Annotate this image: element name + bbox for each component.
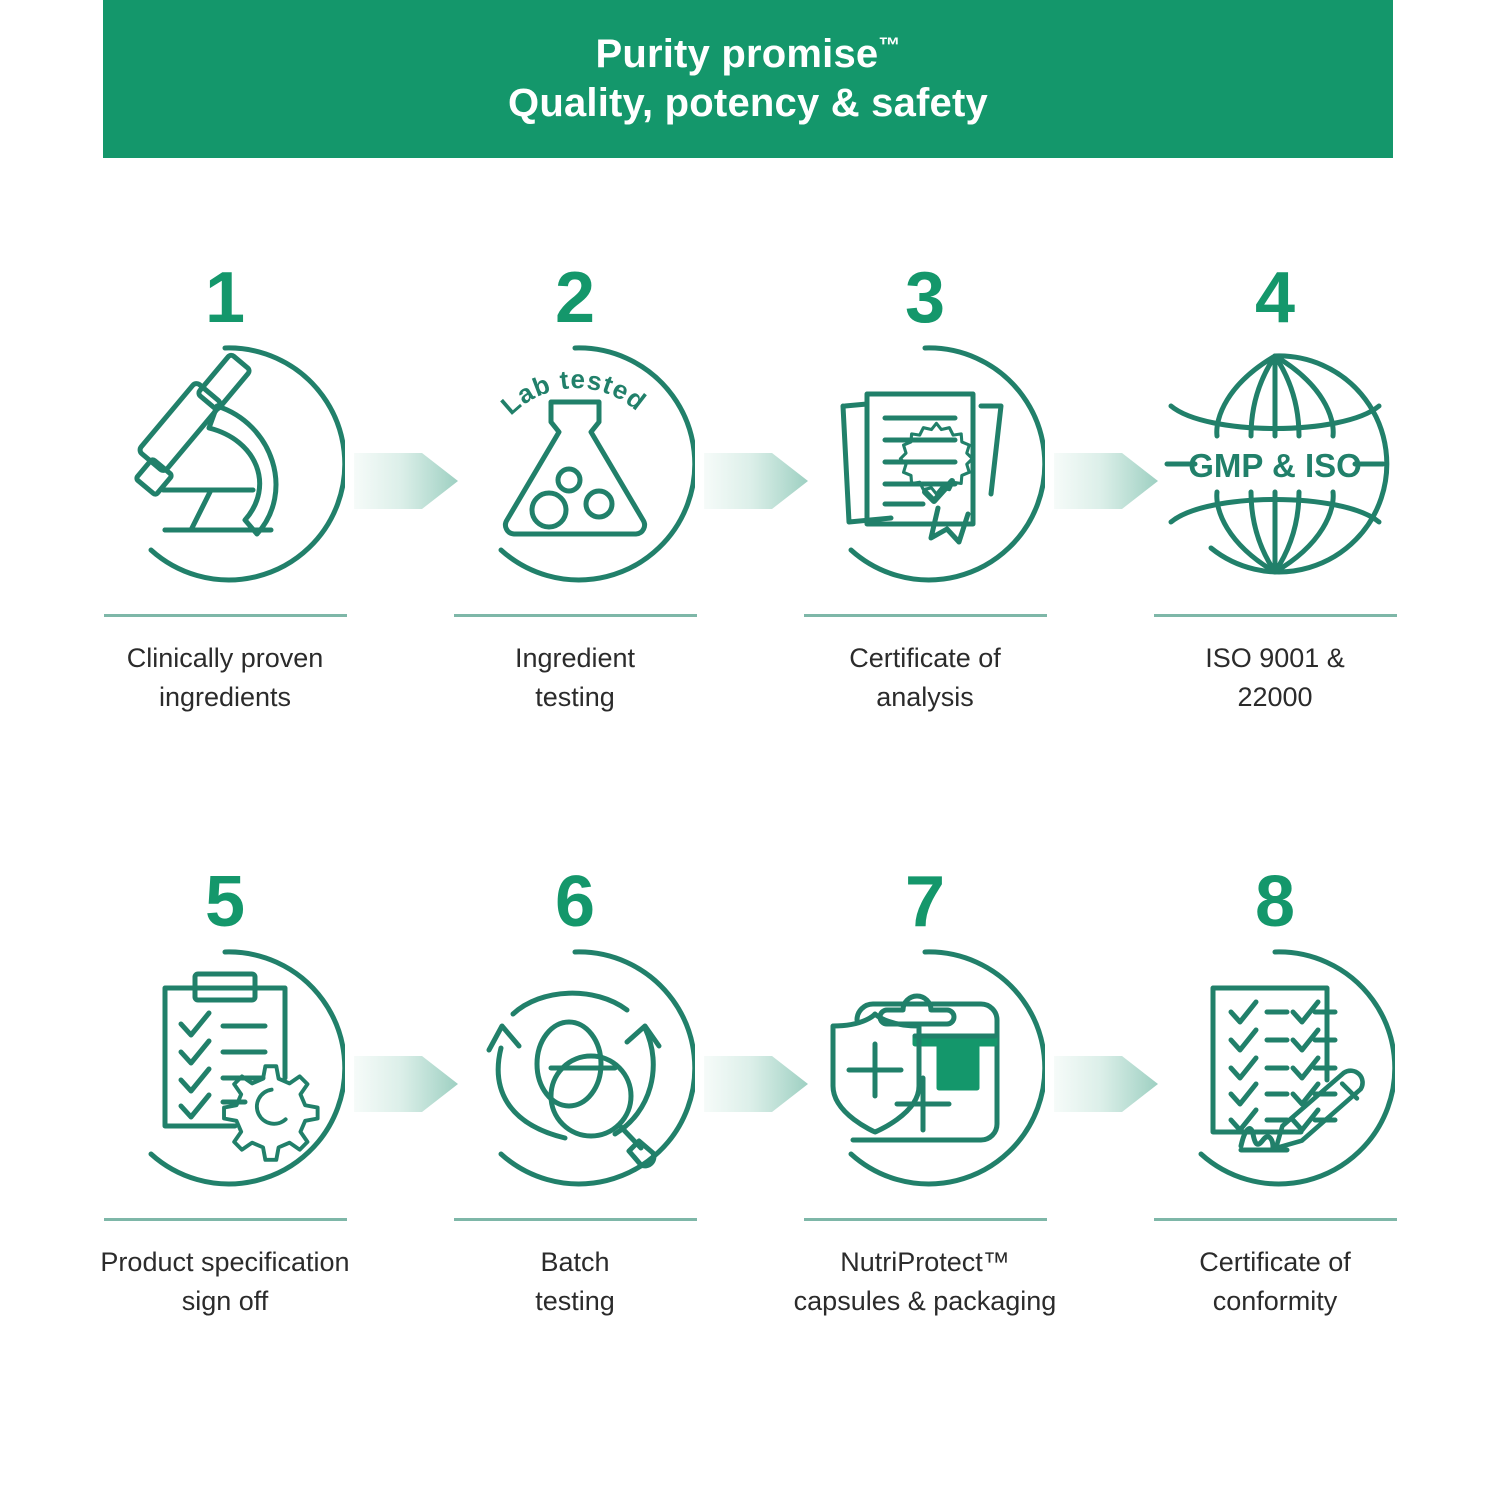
microscope-icon — [105, 344, 345, 584]
step-number-2: 2 — [555, 262, 595, 340]
trademark-symbol: ™ — [878, 33, 900, 58]
step-divider — [104, 614, 347, 617]
step-divider — [1154, 614, 1397, 617]
clipboard-gear-icon — [105, 948, 345, 1188]
step-number-8: 8 — [1255, 866, 1295, 944]
infographic-page: Purity promise™ Quality, potency & safet… — [0, 0, 1500, 1500]
step-number-1: 1 — [205, 262, 245, 340]
lab-flask-icon: Lab tested — [455, 344, 695, 584]
step-divider — [804, 1218, 1047, 1221]
step-divider — [804, 614, 1047, 617]
shield-package-icon — [805, 948, 1045, 1188]
arrow-6-to-7 — [702, 1048, 810, 1120]
step-number-6: 6 — [555, 866, 595, 944]
step-divider — [1154, 1218, 1397, 1221]
step-divider — [454, 1218, 697, 1221]
batch-magnifier-icon — [455, 948, 695, 1188]
svg-text:Lab tested: Lab tested — [495, 364, 652, 420]
step-divider — [104, 1218, 347, 1221]
banner-title-text: Purity promise — [595, 32, 878, 76]
step-number-5: 5 — [205, 866, 245, 944]
certificate-seal-icon — [805, 344, 1045, 584]
banner-title-line-2: Quality, potency & safety — [508, 79, 988, 128]
step-caption-4: ISO 9001 & 22000 — [1205, 639, 1345, 717]
step-caption-2: Ingredient testing — [515, 639, 635, 717]
step-caption-8: Certificate of conformity — [1199, 1243, 1351, 1321]
step-number-7: 7 — [905, 866, 945, 944]
arrow-7-to-8 — [1052, 1048, 1160, 1120]
arrow-1-to-2 — [352, 445, 460, 517]
step-caption-1: Clinically proven ingredients — [127, 639, 324, 717]
step-number-4: 4 — [1255, 262, 1295, 340]
signed-checklist-icon — [1155, 948, 1395, 1188]
arrow-5-to-6 — [352, 1048, 460, 1120]
arrow-2-to-3 — [702, 445, 810, 517]
step-caption-7-text: NutriProtect™ capsules & packaging — [794, 1247, 1057, 1316]
step-1[interactable]: 1 Clinically proven ingredients — [50, 262, 400, 717]
step-caption-5: Product specification sign off — [100, 1243, 349, 1321]
arrow-3-to-4 — [1052, 445, 1160, 517]
step-caption-7: NutriProtect™ capsules & packaging — [794, 1243, 1057, 1321]
step-5[interactable]: 5 Product specification sign off — [50, 866, 400, 1321]
step-caption-6: Batch testing — [535, 1243, 615, 1321]
header-banner: Purity promise™ Quality, potency & safet… — [103, 0, 1393, 158]
globe-icon: GMP & ISO — [1155, 344, 1395, 584]
step-divider — [454, 614, 697, 617]
gmp-iso-badge-text: GMP & ISO — [1188, 447, 1362, 484]
step-caption-3: Certificate of analysis — [849, 639, 1001, 717]
banner-title-line-1: Purity promise™ — [595, 30, 900, 79]
lab-tested-badge-text: Lab tested — [495, 364, 652, 420]
step-number-3: 3 — [905, 262, 945, 340]
